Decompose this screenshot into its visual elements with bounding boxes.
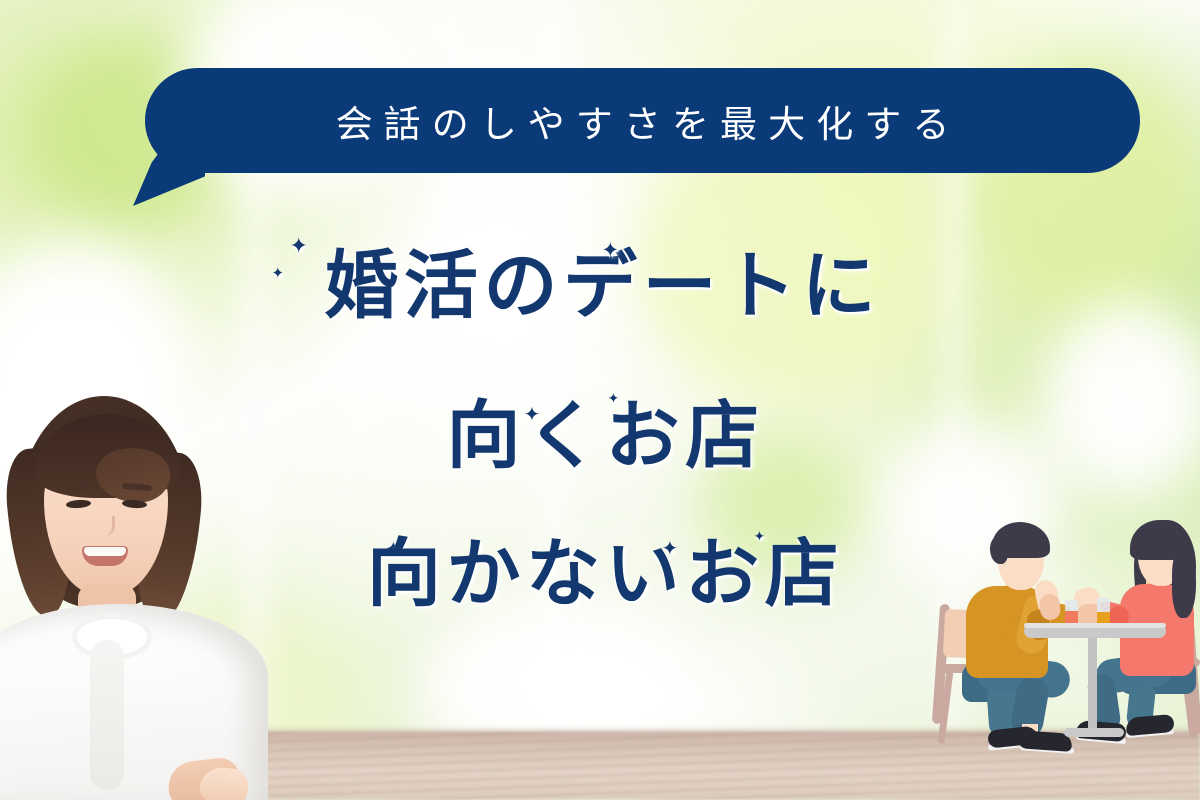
- banner-label: 会話のしやすさを最大化する: [145, 68, 1140, 173]
- mouth: [82, 546, 128, 566]
- table-base: [1064, 728, 1124, 737]
- drink-glass-orange: [1097, 598, 1110, 626]
- couple-illustration: [928, 506, 1200, 756]
- headline-line-2: 向くお店 ✦ ✦: [200, 400, 1000, 474]
- headline-line-1-text: 婚活のデートに: [324, 246, 881, 328]
- headline-line-3-text: 向かないお店: [367, 534, 844, 616]
- headline-line-3: 向かないお店 ✦ ✦ ✦: [200, 538, 1000, 612]
- blouse-drape: [90, 640, 124, 790]
- man-hair-side: [990, 536, 1008, 564]
- highlight-bar: 向くお店: [441, 400, 765, 474]
- highlight-bar: 向かないお店: [361, 538, 844, 612]
- woman-hair-side: [1172, 546, 1196, 618]
- headline-block: 婚活のデートに ✦ ✦ ✦ 向くお店 ✦ ✦ 向かないお店 ✦ ✦ ✦: [200, 250, 1000, 612]
- poster-canvas: 会話のしやすさを最大化する 婚活のデートに ✦ ✦ ✦ 向くお店 ✦ ✦ 向かな…: [0, 0, 1200, 800]
- table-stem: [1088, 636, 1097, 734]
- headline-line-2-text: 向くお店: [446, 396, 764, 478]
- headline-line-1: 婚活のデートに ✦ ✦ ✦: [200, 250, 1000, 324]
- banner-speech-bubble: 会話のしやすさを最大化する: [145, 68, 1140, 173]
- woman-photo: [0, 388, 254, 800]
- sparkle-icon: ✦: [266, 266, 290, 281]
- table-top-highlight: [1024, 623, 1166, 628]
